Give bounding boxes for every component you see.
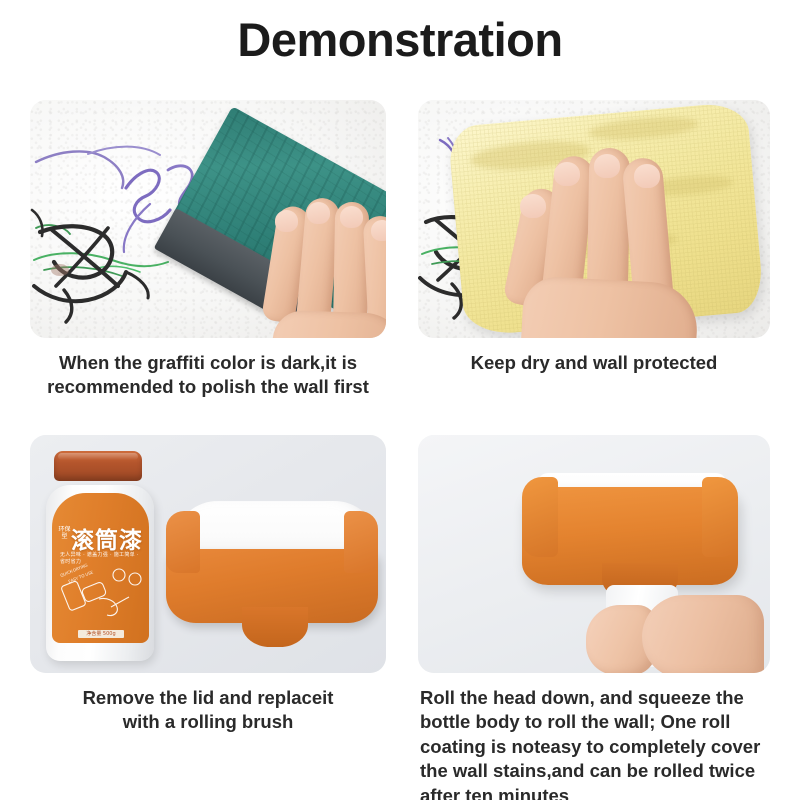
step-4-caption: Roll the head down, and squeeze the bott… [418,686,770,800]
roller-left-lip [166,511,200,573]
palm [642,595,764,673]
caption-line: Keep dry and wall protected [418,351,770,375]
caption-line: coating is noteasy to completely cover [420,735,770,759]
caption-line: Remove the lid and replaceit [30,686,386,710]
photo-bottle-and-roller-head: 环保型 滚筒漆 无人异味 · 遮盖力强 · 施工简单 · 省时省力 QUICK-… [30,435,386,673]
caption-line: When the graffiti color is dark,it is [30,351,386,375]
caption-line: recommended to polish the wall first [30,375,386,399]
caption-line: bottle body to roll the wall; One roll [420,710,770,734]
caption-line: after ten minutes [420,784,770,800]
demonstration-page: Demonstration [0,0,800,800]
step-card-1: When the graffiti color is dark,it is re… [30,100,386,400]
label-side-text: 环保型 [58,527,71,541]
photo-wiping-wall-with-cloth [418,100,770,338]
step-3-caption: Remove the lid and replaceit with a roll… [30,686,386,735]
caption-line: the wall stains,and can be rolled twice [420,759,770,783]
roller-right-lip [702,477,738,557]
roller-neck [242,607,308,647]
label-illustration: QUICK-DRYING EASY TO USE [59,563,143,621]
step-card-4: Roll the head down, and squeeze the bott… [418,435,770,800]
hand-holding-sanding-block [268,172,386,338]
step-card-3: 环保型 滚筒漆 无人异味 · 遮盖力强 · 施工简单 · 省时省力 QUICK-… [30,435,386,735]
step-1-caption: When the graffiti color is dark,it is re… [30,351,386,400]
photo-sanding-graffiti-wall [30,100,386,338]
roller-left-lip [522,477,558,557]
label-weight-badge: 净含量 500g [78,630,124,638]
bottle-cap [54,451,142,481]
bottle-label: 环保型 滚筒漆 无人异味 · 遮盖力强 · 施工简单 · 省时省力 QUICK-… [52,493,149,643]
roller-right-lip [344,511,378,573]
caption-line: Roll the head down, and squeeze the [420,686,770,710]
page-title: Demonstration [0,14,800,66]
step-card-2: Keep dry and wall protected [418,100,770,375]
label-main-text: 滚筒漆 [71,521,143,555]
roller-brush-head [166,497,378,659]
hand-squeezing-bottle [586,595,761,673]
step-2-caption: Keep dry and wall protected [418,351,770,375]
caption-line: with a rolling brush [30,710,386,734]
hand-wiping-wall [514,130,729,335]
photo-rolling-wall-with-brush [418,435,770,673]
